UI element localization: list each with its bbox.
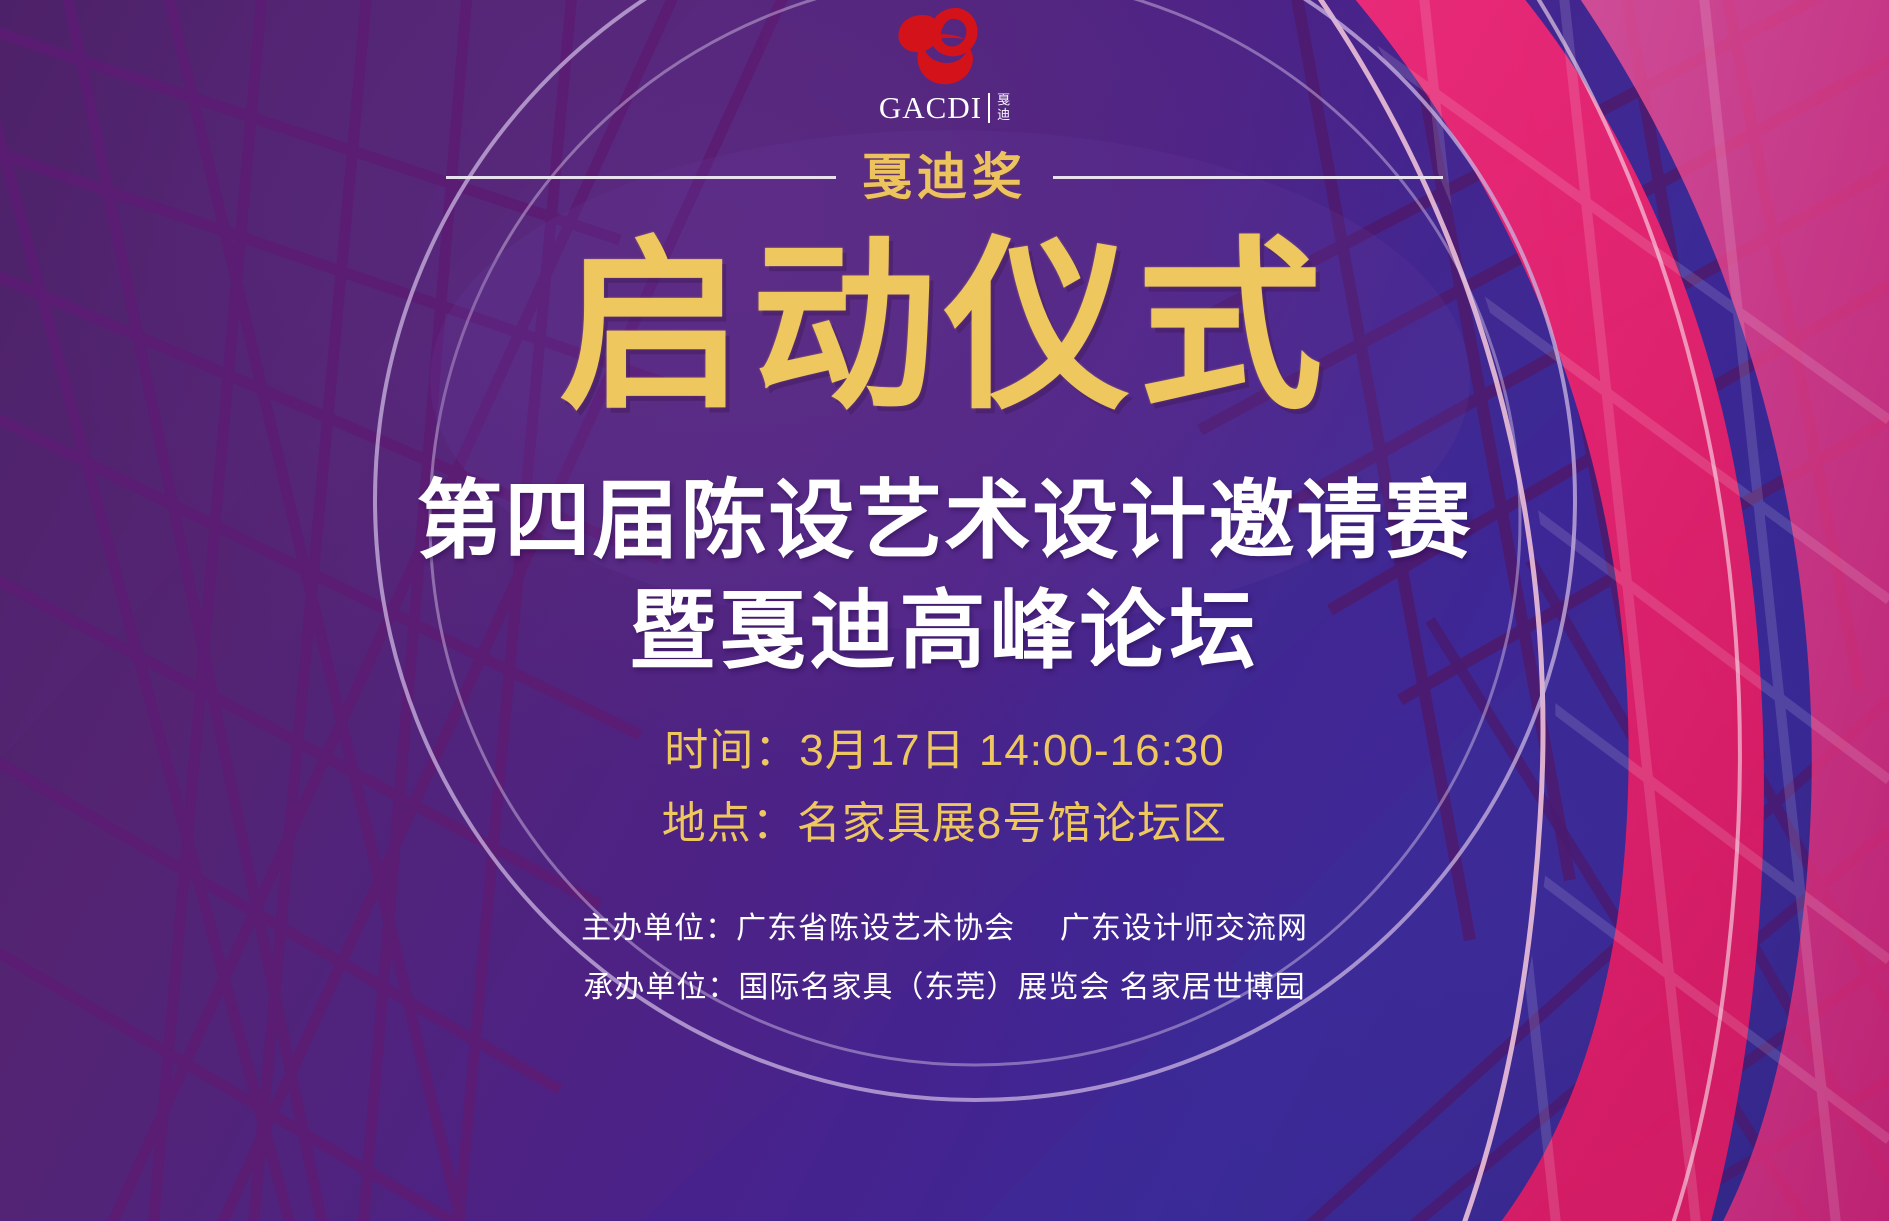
event-subtitle: 第四届陈设艺术设计邀请赛 暨戛迪高峰论坛 [0,466,1889,686]
logo-chinese-text: 戛 迪 [997,93,1010,121]
event-time: 时间：3月17日 14:00-16:30 [0,715,1889,788]
event-poster: GACDI 戛 迪 戛迪奖 启动仪式 第四届陈设艺术设计邀请赛 暨戛迪高峰论坛 … [0,0,1889,1221]
host-units-primary: 主办单位：广东省陈设艺术协会 [581,912,1015,945]
event-place: 地点：名家具展8号馆论坛区 [0,788,1889,861]
subtitle-line-2: 暨戛迪高峰论坛 [0,576,1889,686]
logo-wordmark: GACDI 戛 迪 [879,92,1010,123]
page-title: 启动仪式 [0,236,1889,421]
subtitle-line-1: 第四届陈设艺术设计邀请赛 [0,466,1889,576]
organizer-units: 承办单位：国际名家具（东莞）展览会 名家居世博园 [0,959,1889,1018]
host-units-secondary: 广东设计师交流网 [1060,912,1308,945]
logo-cn-top: 戛 [997,93,1010,107]
logo-divider [988,93,990,123]
award-name: 戛迪奖 [836,152,1053,202]
rule-left [446,176,836,179]
brand-logo: GACDI 戛 迪 [0,6,1889,123]
logo-cn-bottom: 迪 [997,108,1010,122]
gacdi-butterfly-icon [892,6,998,90]
award-name-row: 戛迪奖 [0,152,1889,202]
rule-right [1053,176,1443,179]
host-units: 主办单位：广东省陈设艺术协会 广东设计师交流网 [0,900,1889,959]
event-info: 时间：3月17日 14:00-16:30 地点：名家具展8号馆论坛区 [0,715,1889,860]
logo-latin-text: GACDI [879,92,982,123]
organizer-credits: 主办单位：广东省陈设艺术协会 广东设计师交流网 承办单位：国际名家具（东莞）展览… [0,900,1889,1017]
